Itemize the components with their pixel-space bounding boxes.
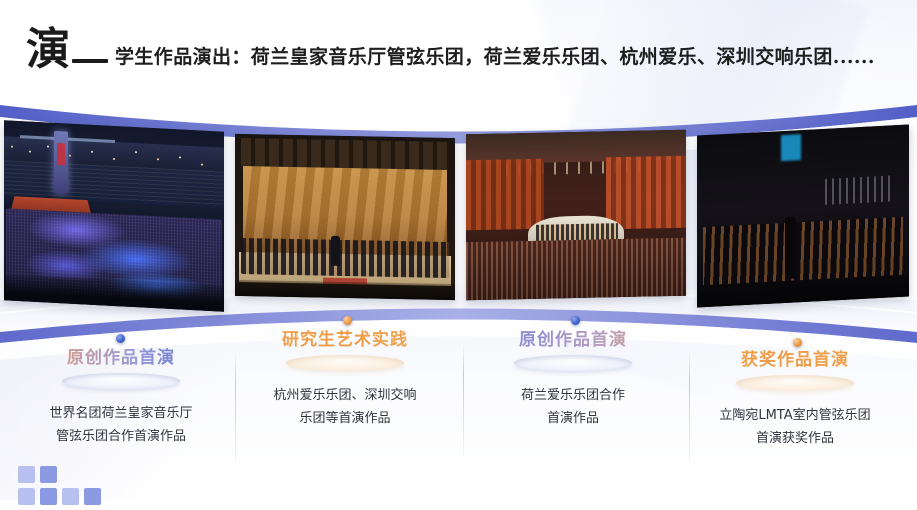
photo-orchestra-golden-stage[interactable] — [235, 134, 455, 300]
caption-plate-2 — [286, 355, 404, 371]
caption-body-1: 世界名团荷兰皇家音乐厅 管弦乐团合作首演作品 — [5, 403, 237, 449]
caption-block-3: 原创作品首演 荷兰爱乐乐团合作 首演作品 — [457, 330, 689, 431]
caption-plate-1 — [62, 373, 180, 389]
header-subtitle: 学生作品演出：荷兰皇家音乐厅管弦乐团，荷兰爱乐乐团、杭州爱乐、深圳交响乐团...… — [115, 48, 875, 72]
caption-body-1-line2: 管弦乐团合作首演作品 — [5, 426, 237, 449]
marker-dot-3 — [571, 316, 580, 325]
caption-block-1: 原创作品首演 世界名团荷兰皇家音乐厅 管弦乐团合作首演作品 — [5, 348, 237, 449]
decor-square-3 — [18, 488, 35, 505]
caption-title-4: 获奖作品首演 — [679, 350, 911, 370]
decor-square-4 — [40, 488, 57, 505]
caption-plate-3 — [514, 355, 632, 371]
caption-body-1-line1: 世界名团荷兰皇家音乐厅 — [5, 403, 237, 426]
slide-root: 演 学生作品演出：荷兰皇家音乐厅管弦乐团，荷兰爱乐乐团、杭州爱乐、深圳交响乐团.… — [0, 0, 917, 510]
caption-plate-4 — [736, 375, 854, 391]
decor-square-1 — [18, 466, 35, 483]
decor-square-6 — [84, 488, 101, 505]
caption-body-3: 荷兰爱乐乐团合作 首演作品 — [457, 385, 689, 431]
caption-block-2: 研究生艺术实践 杭州爱乐乐团、深圳交响 乐团等首演作品 — [229, 330, 461, 431]
caption-body-2-line2: 乐团等首演作品 — [229, 408, 461, 431]
caption-block-4: 获奖作品首演 立陶宛LMTA室内管弦乐团 首演获奖作品 — [679, 350, 911, 451]
header-big-character: 演 — [26, 28, 70, 72]
caption-body-4: 立陶宛LMTA室内管弦乐团 首演获奖作品 — [679, 405, 911, 451]
photo-concert-hall-audience[interactable] — [466, 130, 686, 301]
caption-title-1: 原创作品首演 — [5, 348, 237, 368]
header-dash-rule — [72, 59, 108, 63]
marker-dot-2 — [343, 316, 352, 325]
caption-body-4-line1: 立陶宛LMTA室内管弦乐团 — [679, 405, 911, 428]
caption-body-3-line2: 首演作品 — [457, 408, 689, 431]
decor-square-5 — [62, 488, 79, 505]
photo-row — [0, 100, 917, 360]
caption-body-2: 杭州爱乐乐团、深圳交响 乐团等首演作品 — [229, 385, 461, 431]
decor-square-2 — [40, 466, 57, 483]
slide-header: 演 学生作品演出：荷兰皇家音乐厅管弦乐团，荷兰爱乐乐团、杭州爱乐、深圳交响乐团.… — [26, 28, 875, 72]
caption-body-2-line1: 杭州爱乐乐团、深圳交响 — [229, 385, 461, 408]
photo-orchestra-dark-stage[interactable] — [697, 124, 909, 307]
caption-title-2: 研究生艺术实践 — [229, 330, 461, 350]
marker-dot-4 — [793, 338, 802, 347]
caption-body-4-line2: 首演获奖作品 — [679, 428, 911, 451]
photo-outdoor-night-concert[interactable] — [4, 120, 224, 312]
caption-body-3-line1: 荷兰爱乐乐团合作 — [457, 385, 689, 408]
curved-photo-stage — [0, 100, 917, 360]
marker-dot-1 — [116, 334, 125, 343]
caption-title-3: 原创作品首演 — [457, 330, 689, 350]
